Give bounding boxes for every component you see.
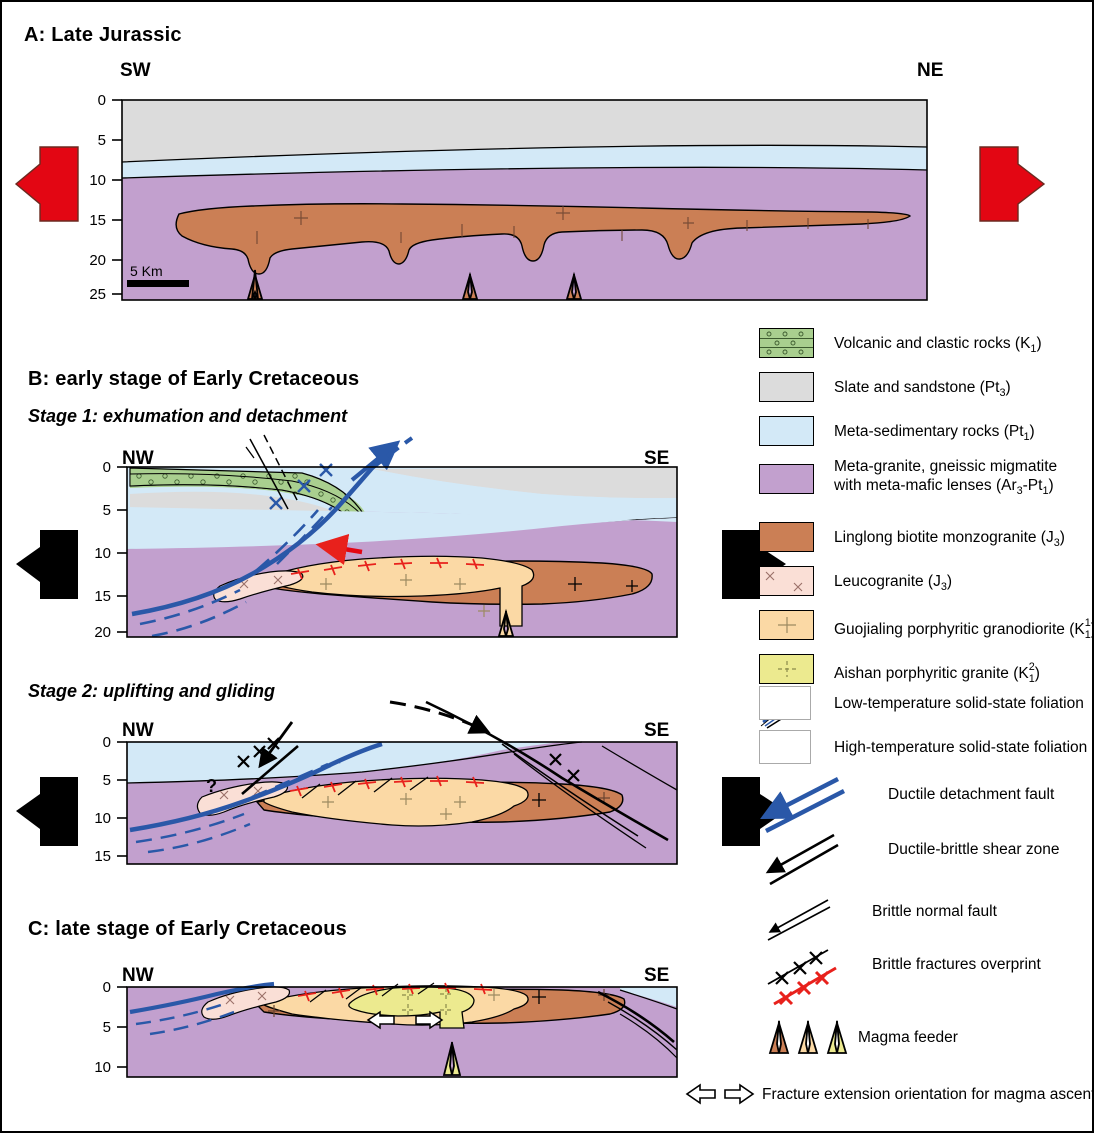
- magma-feeder-symbol: [770, 1021, 846, 1053]
- panel-a-tick-20: 20: [72, 252, 106, 269]
- legend-label-meta-granite: Meta-granite, gneissic migmatite with me…: [834, 457, 1094, 501]
- scale-bar: [127, 280, 189, 287]
- extension-arrow-left: [16, 147, 78, 221]
- panel-b1-tick-15: 15: [77, 588, 111, 605]
- legend-label-ductile-brittle-shear-zone: Ductile-brittle shear zone: [888, 840, 1059, 859]
- legend-swatch-slate-sandstone: [759, 372, 814, 402]
- panel-a-tick-15: 15: [72, 212, 106, 229]
- legend-label-fracture-extension: Fracture extension orientation for magma…: [762, 1085, 1094, 1104]
- brittle-fractures-overprint-symbol: [768, 950, 836, 1004]
- panel-b2-tick-10: 10: [77, 810, 111, 827]
- panel-c-cross-section: [117, 983, 677, 1077]
- legend-swatch-meta-granite: [759, 464, 814, 494]
- panel-b-stage2-title: Stage 2: uplifting and gliding: [28, 681, 275, 702]
- legend-swatch-volcanic-clastic: [759, 328, 814, 358]
- panel-c-title: C: late stage of Early Cretaceous: [28, 918, 347, 941]
- panel-b1-tick-20: 20: [77, 624, 111, 641]
- extension-arrow-left-b1: [16, 530, 78, 599]
- legend-label-brittle-fractures-overprint: Brittle fractures overprint: [872, 955, 1041, 974]
- legend-label-guojialing: Guojialing porphyritic granodiorite (K11…: [834, 616, 1094, 645]
- legend-label-volcanic-clastic: Volcanic and clastic rocks (K1): [834, 334, 1042, 359]
- legend-swatch-linglong: [759, 522, 814, 552]
- panel-c-tick-5: 5: [85, 1019, 111, 1036]
- panel-b2-right-direction: SE: [644, 720, 669, 742]
- legend-label-magma-feeder: Magma feeder: [858, 1028, 958, 1047]
- brittle-normal-fault-symbol: [768, 900, 830, 940]
- legend-label-high-temp-foliation: High-temperature solid-state foliation: [834, 738, 1087, 757]
- extension-arrow-right: [980, 147, 1044, 221]
- legend-label-ductile-detachment-fault: Ductile detachment fault: [888, 785, 1054, 804]
- panel-c-left-direction: NW: [122, 965, 154, 987]
- legend-label-brittle-normal-fault: Brittle normal fault: [872, 902, 997, 921]
- panel-a-left-direction: SW: [120, 60, 151, 82]
- legend-swatch-guojialing: [759, 610, 814, 640]
- panel-a-tick-0: 0: [80, 92, 106, 109]
- panel-b2-tick-0: 0: [85, 734, 111, 751]
- panel-a-tick-25: 25: [72, 286, 106, 303]
- panel-a-title: A: Late Jurassic: [24, 24, 182, 47]
- panel-b1-tick-0: 0: [85, 459, 111, 476]
- legend-swatch-low-temp-foliation: [759, 686, 811, 720]
- legend-swatch-high-temp-foliation: [759, 730, 811, 764]
- panel-b2-tick-5: 5: [85, 772, 111, 789]
- panel-c-right-direction: SE: [644, 965, 669, 987]
- panel-a-right-direction: NE: [917, 60, 943, 82]
- legend-label-slate-sandstone: Slate and sandstone (Pt3): [834, 378, 1011, 403]
- panel-b1-right-direction: SE: [644, 448, 669, 470]
- panel-c-tick-10: 10: [77, 1059, 111, 1076]
- legend-swatch-leucogranite: [759, 566, 814, 596]
- legend-label-meta-sedimentary: Meta-sedimentary rocks (Pt1): [834, 422, 1035, 447]
- panel-b-title: B: early stage of Early Cretaceous: [28, 368, 359, 391]
- panel-b1-tick-5: 5: [85, 502, 111, 519]
- legend-label-aishan: Aishan porphyritic granite (K21): [834, 660, 1040, 689]
- extension-arrow-left-b2: [16, 777, 78, 846]
- panel-b1-tick-10: 10: [77, 545, 111, 562]
- legend-swatch-aishan: [759, 654, 814, 684]
- legend-label-leucogranite: Leucogranite (J3): [834, 572, 952, 597]
- legend-swatch-meta-sedimentary: [759, 416, 814, 446]
- panel-c-tick-0: 0: [85, 979, 111, 996]
- panel-b1-left-direction: NW: [122, 448, 154, 470]
- legend-label-low-temp-foliation: Low-temperature solid-state foliation: [834, 694, 1084, 713]
- panel-a-tick-10: 10: [72, 172, 106, 189]
- legend-label-linglong: Linglong biotite monzogranite (J3): [834, 528, 1065, 553]
- panel-a-tick-5: 5: [80, 132, 106, 149]
- ductile-brittle-shear-zone-symbol: [768, 835, 838, 884]
- scale-bar-label: 5 Km: [130, 263, 163, 279]
- geological-cross-section-figure: × ×: [0, 0, 1094, 1133]
- panel-a-cross-section: [16, 100, 1044, 300]
- fracture-extension-symbol: [687, 1085, 753, 1103]
- panel-b2-tick-15: 15: [77, 848, 111, 865]
- panel-b2-left-direction: NW: [122, 720, 154, 742]
- query-marker: ?: [206, 776, 217, 796]
- panel-b-stage1-title: Stage 1: exhumation and detachment: [28, 406, 347, 427]
